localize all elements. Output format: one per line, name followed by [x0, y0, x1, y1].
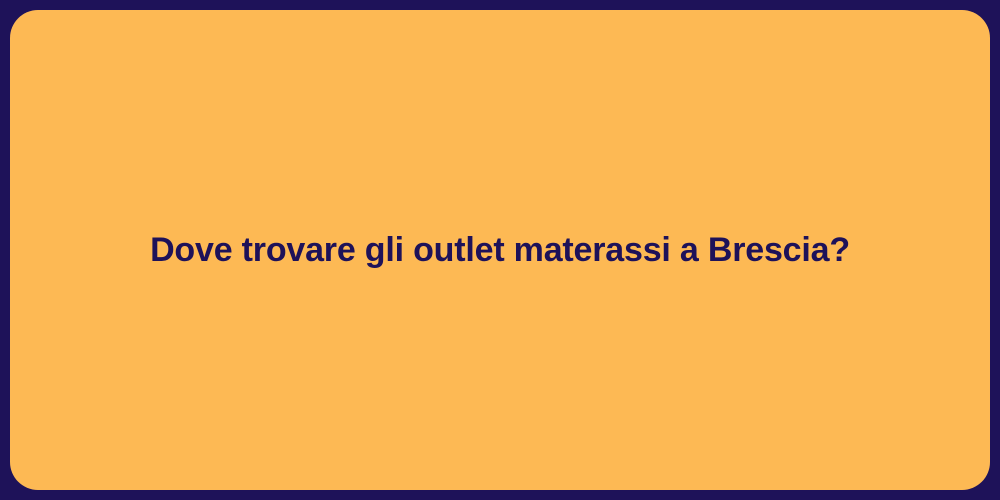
page-title: Dove trovare gli outlet materassi a Bres…	[110, 230, 890, 271]
page-frame: Dove trovare gli outlet materassi a Bres…	[0, 0, 1000, 500]
hero-card: Dove trovare gli outlet materassi a Bres…	[10, 10, 990, 490]
